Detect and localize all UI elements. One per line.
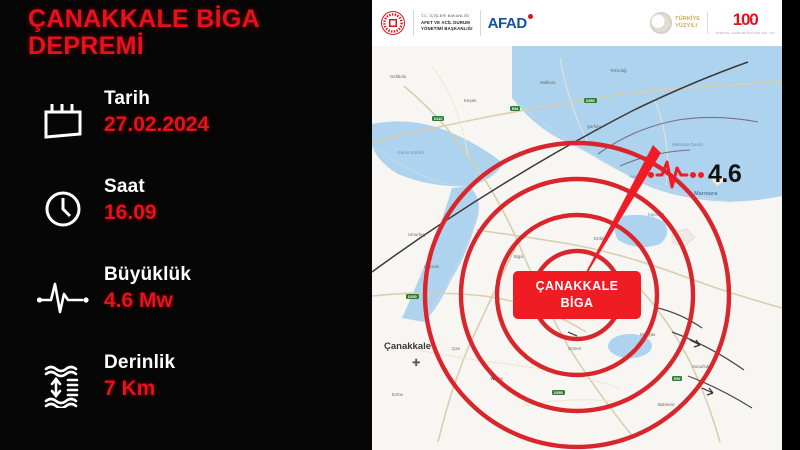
detail-text-date: Tarih 27.02.2024 bbox=[104, 88, 209, 138]
detail-value-date: 27.02.2024 bbox=[104, 112, 209, 137]
clock-icon bbox=[36, 182, 90, 236]
seismograph-icon bbox=[36, 270, 90, 324]
epicenter-label: ÇANAKKALE BİGA bbox=[513, 271, 641, 319]
detail-row-magnitude: Büyüklük 4.6 Mw bbox=[0, 264, 372, 352]
map-place-label: Keşan bbox=[464, 98, 476, 103]
detail-text-time: Saat 16.09 bbox=[104, 176, 157, 226]
map-place-label: Şarköy bbox=[587, 124, 601, 129]
detail-row-time: Saat 16.09 bbox=[0, 176, 372, 264]
epicenter-label-line-1: ÇANAKKALE bbox=[536, 278, 619, 295]
page-title-line-2: DEPREMİ bbox=[28, 33, 358, 60]
ministry-line-3: YÖNETİMİ BAŞKANLIĞI bbox=[421, 26, 473, 32]
detail-row-date: Tarih 27.02.2024 bbox=[0, 88, 372, 176]
ministry-seal-icon bbox=[380, 10, 406, 36]
detail-text-magnitude: Büyüklük 4.6 Mw bbox=[104, 264, 191, 314]
map-place-label: Gelibolu bbox=[390, 74, 406, 79]
seismograph-wave-icon bbox=[648, 158, 706, 190]
map-panel: T.C. İÇİŞLERİ BAKANLIĞI AFET VE ACİL DUR… bbox=[372, 0, 782, 450]
page-title: ÇANAKKALE BİGA DEPREMİ bbox=[28, 6, 358, 60]
detail-value-time: 16.09 bbox=[104, 200, 157, 225]
ministry-line-1: T.C. İÇİŞLERİ BAKANLIĞI bbox=[421, 14, 473, 20]
logo-divider bbox=[707, 12, 708, 34]
turkiye-yuzyili-line-2: YÜZYILI bbox=[675, 23, 700, 30]
turkiye-yuzyili-line-1: TÜRKİYE bbox=[675, 16, 700, 23]
centenary-100-logo: 100 ★ TÜRKİYE CUMHURİYETİ'NİN 100. YILI bbox=[715, 11, 775, 35]
page-title-line-1: ÇANAKKALE BİGA bbox=[28, 6, 358, 33]
ministry-logo-group: T.C. İÇİŞLERİ BAKANLIĞI AFET VE ACİL DUR… bbox=[380, 10, 527, 36]
map-place-label: Malkara bbox=[540, 80, 556, 85]
map-place-label: Tekirdağ bbox=[610, 68, 627, 73]
epicenter-label-line-2: BİGA bbox=[561, 295, 594, 312]
calendar-icon bbox=[36, 94, 90, 148]
detail-list: Tarih 27.02.2024 Saat 16.09 bbox=[0, 88, 372, 440]
turkiye-yuzyili-logo: TÜRKİYE YÜZYILI bbox=[650, 12, 700, 34]
detail-label-depth: Derinlik bbox=[104, 352, 175, 374]
centenary-subtitle: TÜRKİYE CUMHURİYETİ'NİN 100. YILI bbox=[715, 31, 775, 35]
depth-icon bbox=[36, 358, 90, 412]
detail-label-date: Tarih bbox=[104, 88, 209, 110]
ministry-name-text: T.C. İÇİŞLERİ BAKANLIĞI AFET VE ACİL DUR… bbox=[421, 14, 473, 32]
map-header-logobar: T.C. İÇİŞLERİ BAKANLIĞI AFET VE ACİL DUR… bbox=[372, 0, 782, 46]
afad-logo-dot bbox=[528, 14, 533, 19]
earthquake-info-panel: ÇANAKKALE BİGA DEPREMİ Tarih bbox=[0, 0, 372, 450]
road-shield-icon: E84 bbox=[510, 106, 520, 111]
afad-logo-text: AFAD bbox=[488, 15, 527, 32]
detail-value-depth: 7 Km bbox=[104, 376, 175, 401]
crescent-moon-icon bbox=[650, 12, 672, 34]
magnitude-callout-value: 4.6 bbox=[708, 162, 741, 187]
map-canvas[interactable]: Çanakkale ✚ Marmara Gelibolu Keşan Malka… bbox=[372, 46, 782, 450]
centenary-logo-group: TÜRKİYE YÜZYILI 100 ★ TÜRKİYE CUMHURİYET… bbox=[650, 11, 775, 35]
star-icon: ★ bbox=[751, 16, 755, 22]
infographic-root: ÇANAKKALE BİGA DEPREMİ Tarih bbox=[0, 0, 800, 450]
detail-label-magnitude: Büyüklük bbox=[104, 264, 191, 286]
afad-logo: AFAD bbox=[488, 15, 527, 32]
road-shield-icon: D110 bbox=[432, 116, 444, 121]
road-shield-icon: D550 bbox=[584, 98, 597, 103]
turkiye-yuzyili-text: TÜRKİYE YÜZYILI bbox=[675, 16, 700, 30]
detail-row-depth: Derinlik 7 Km bbox=[0, 352, 372, 440]
map-place-label: Ezine bbox=[392, 392, 403, 397]
centenary-number: 100 ★ bbox=[733, 11, 758, 28]
detail-label-time: Saat bbox=[104, 176, 157, 198]
ministry-line-2: AFET VE ACİL DURUM bbox=[421, 20, 473, 26]
magnitude-callout: 4.6 bbox=[648, 158, 741, 190]
detail-value-magnitude: 4.6 Mw bbox=[104, 288, 191, 313]
detail-text-depth: Derinlik 7 Km bbox=[104, 352, 175, 402]
